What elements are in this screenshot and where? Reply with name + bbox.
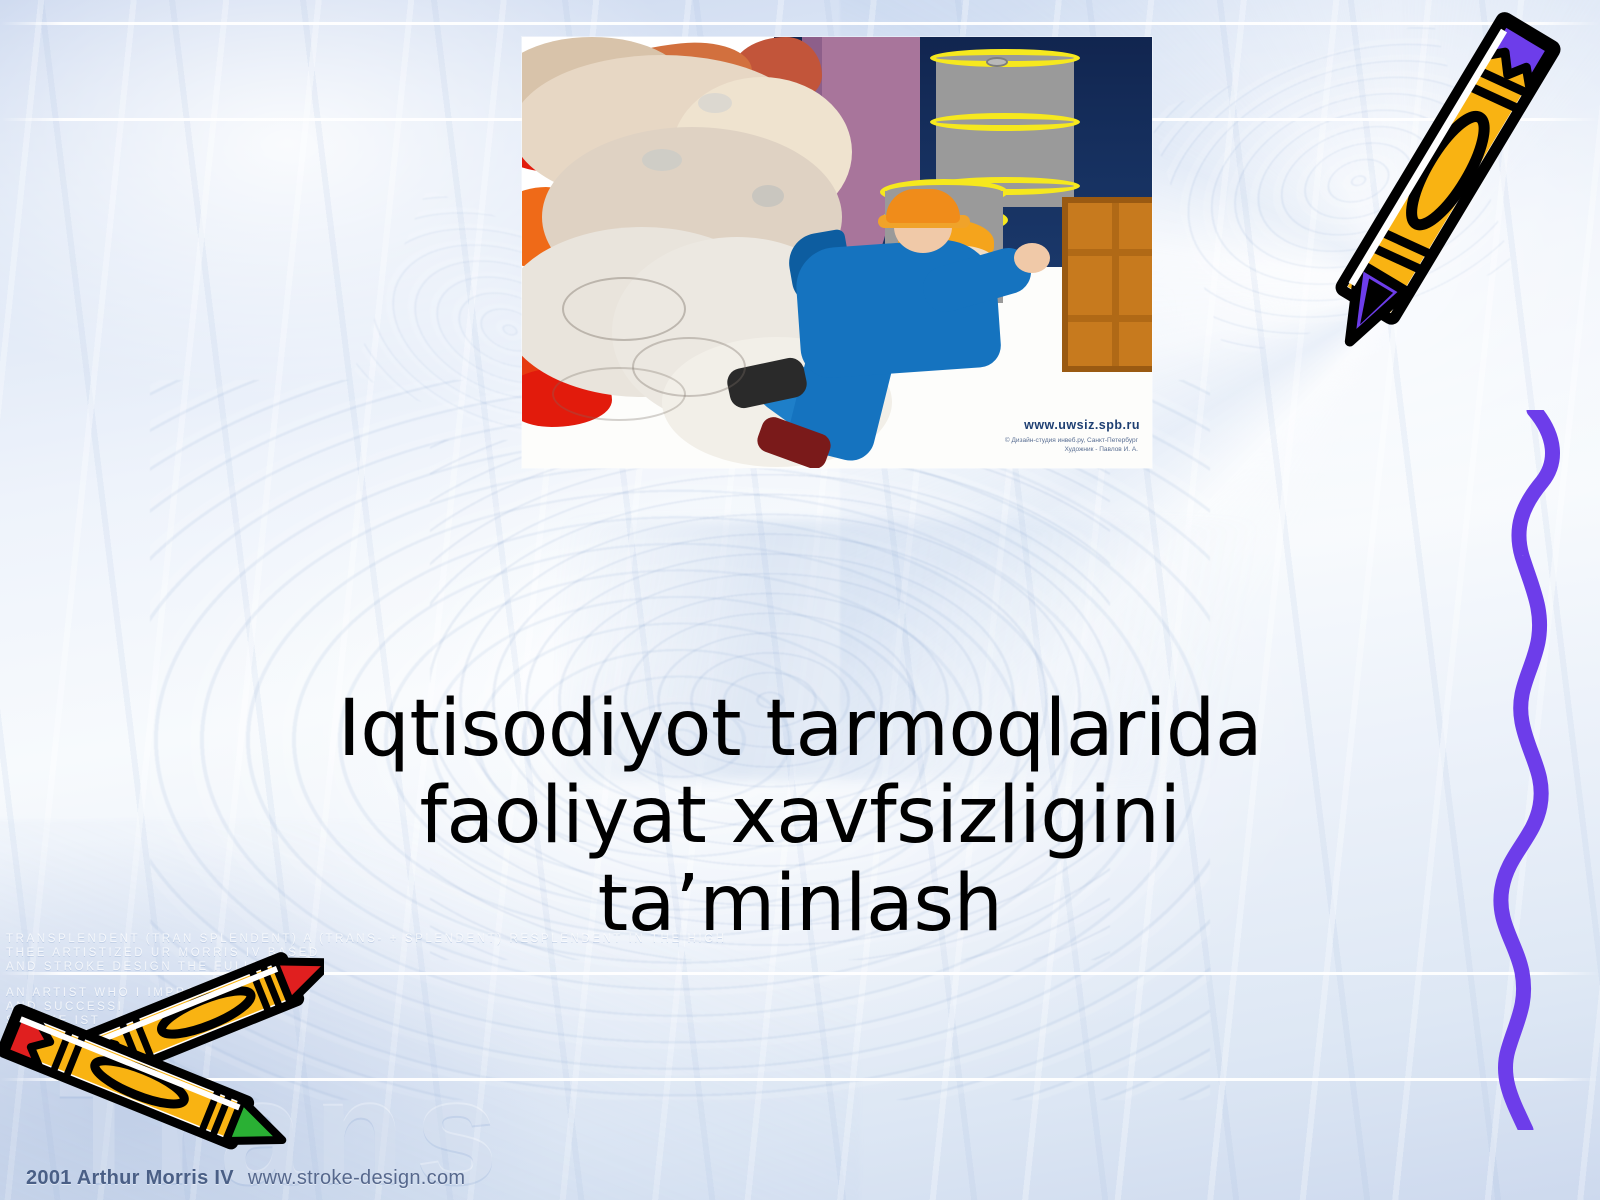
crossed-pencils-icon: [0, 932, 324, 1172]
picture-wisp-a: [562, 277, 686, 341]
picture-watermark-url: www.uwsiz.spb.ru: [1024, 418, 1140, 432]
picture-credit-line-1: © Дизайн-студия инвеб.ру, Санкт-Петербур…: [1005, 436, 1138, 445]
footer-url: www.stroke-design.com: [248, 1167, 465, 1189]
presentation-slide: Trans TRANSPLENDENT (TRAN SPLENDENT) A (…: [0, 0, 1600, 1200]
picture-worker-hand: [1014, 243, 1050, 273]
picture-watermark-credit: © Дизайн-студия инвеб.ру, Санкт-Петербур…: [1005, 436, 1138, 454]
picture-dust-c: [752, 185, 784, 207]
picture-credit-line-2: Художник - Павлов И. А.: [1005, 445, 1138, 454]
footer-author: 2001 Arthur Morris IV: [26, 1167, 234, 1189]
picture-dust-a: [642, 149, 682, 171]
purple-squiggle-stroke: [1430, 410, 1600, 1130]
picture-barrel-cap: [986, 57, 1008, 67]
picture-wooden-crate: [1062, 197, 1152, 372]
picture-silhouette-b: [874, 37, 920, 187]
pencil-icon-top-right: [1316, 0, 1566, 374]
footer-credit: 2001 Arthur Morris IVwww.stroke-design.c…: [26, 1167, 465, 1190]
picture-wisp-c: [552, 367, 686, 421]
slide-title: Iqtisodiyot tarmoqlarida faoliyat xavfsi…: [160, 686, 1440, 948]
picture-barrel-rim-mid: [930, 113, 1080, 131]
picture-dust-b: [698, 93, 732, 113]
slide-image-fire-safety: www.uwsiz.spb.ru © Дизайн-студия инвеб.р…: [522, 37, 1152, 468]
